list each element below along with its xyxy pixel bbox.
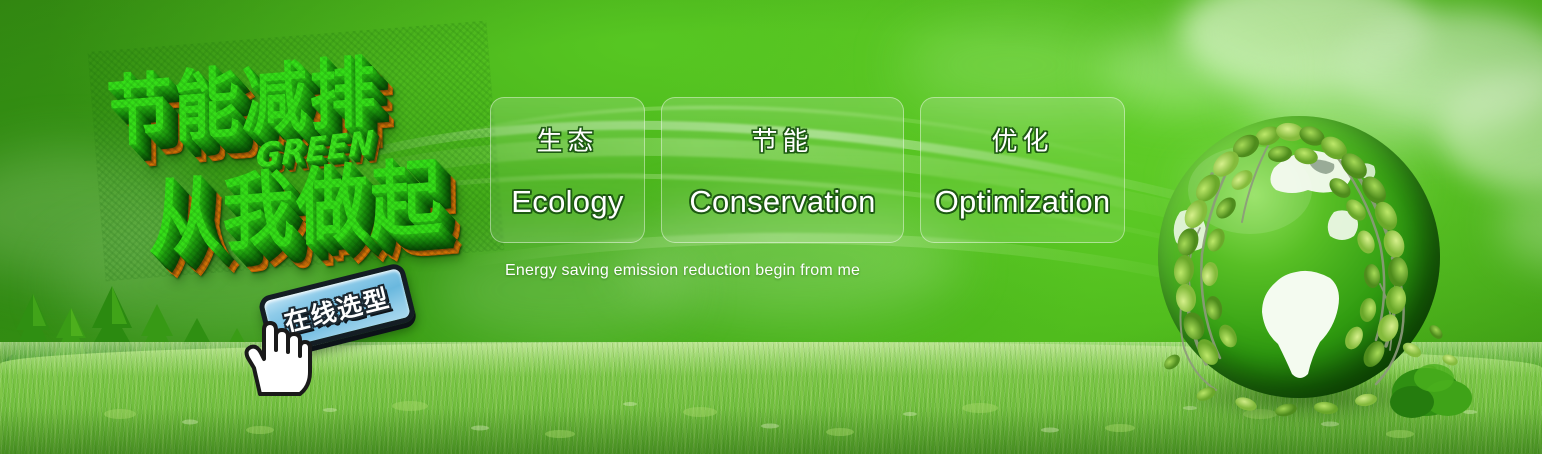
globe-continents	[1158, 116, 1440, 398]
feature-card-list: 生态 Ecology 节能 Conservation 优化 Optimizati…	[490, 97, 1125, 243]
feature-card-cn-label: 生态	[536, 121, 598, 158]
title-line-2: 从我做起	[148, 128, 444, 273]
feature-card-en-label: Conservation	[689, 184, 875, 220]
feature-card-en-label: Ecology	[511, 184, 623, 220]
feature-card-cn-label: 优化	[991, 121, 1053, 158]
hero-title: 节能减排 GREEN 从我做起	[88, 21, 505, 282]
eco-banner: 节能减排 GREEN 从我做起 在线选型 生态 Ecology 节能 Conse…	[0, 0, 1542, 454]
globe-sphere	[1158, 116, 1440, 398]
feature-card-en-label: Optimization	[935, 184, 1111, 220]
feature-card-conservation[interactable]: 节能 Conservation	[661, 97, 904, 243]
eco-globe	[1140, 108, 1470, 438]
tagline: Energy saving emission reduction begin f…	[505, 262, 860, 280]
feature-card-optimization[interactable]: 优化 Optimization	[920, 97, 1125, 243]
feature-card-cn-label: 节能	[751, 121, 813, 158]
feature-card-ecology[interactable]: 生态 Ecology	[490, 97, 645, 243]
